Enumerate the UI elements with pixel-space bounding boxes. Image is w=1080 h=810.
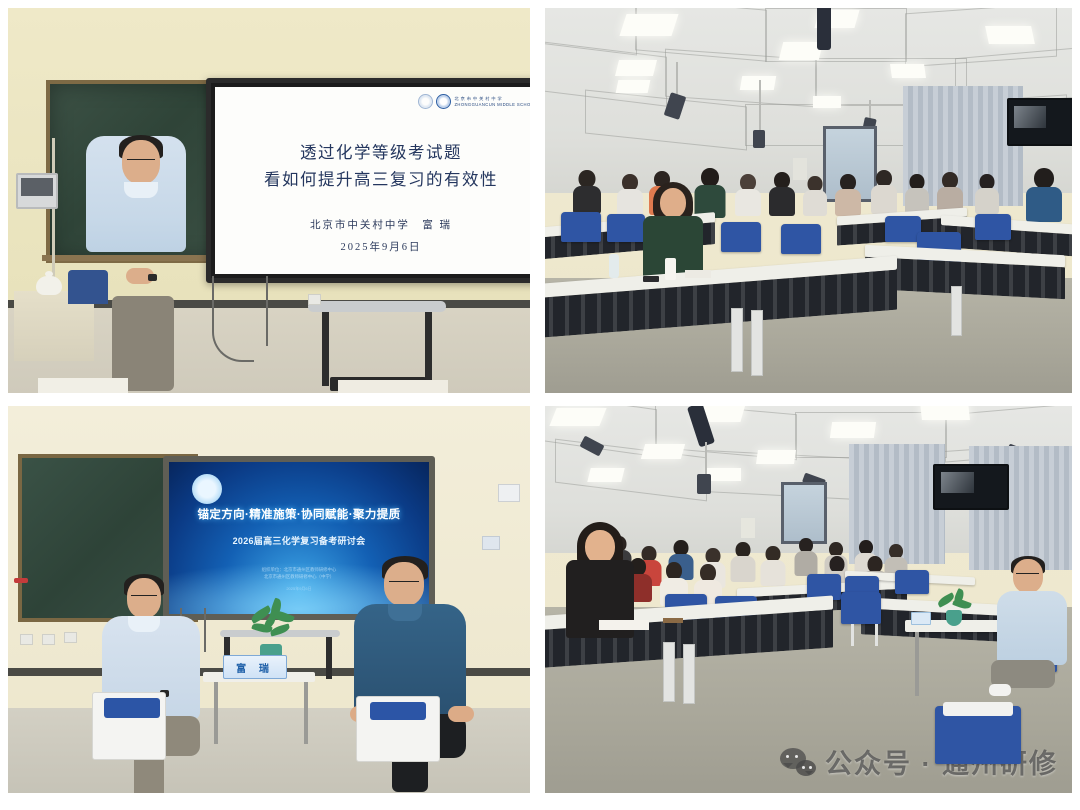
chair-backrest [943,702,1013,716]
drop-rod [705,442,707,476]
ceiling-light [707,468,741,481]
glasses-icon [389,581,419,582]
wall-panel [482,536,500,550]
chair [975,214,1011,240]
slide-logo-text-line2: ZHONGGUANCUN MIDDLE SCHOOL [454,102,530,107]
slide-title-line1: 透过化学等级考试题 [215,139,530,166]
window [781,482,827,544]
wall-ac-unit [741,518,755,538]
chair [607,214,645,242]
shoe [989,684,1011,696]
desk-leg [751,310,763,376]
photo-collage: 北 京 市 中 关 村 中 学 ZHONGGUANCUN MIDDLE SCHO… [0,0,1080,810]
presenter-legs [112,296,174,391]
head [127,578,161,618]
ceiling-light [890,64,926,78]
glasses-icon [1016,573,1039,574]
smartboard-screen: 北 京 市 中 关 村 中 学 ZHONGGUANCUN MIDDLE SCHO… [215,87,530,274]
school-emblem-faint-icon [418,94,433,109]
water-bottle [609,254,619,278]
ceiling-light [549,408,606,426]
chair [895,570,929,594]
wall-tv [933,464,1009,510]
presenter [86,136,198,391]
table-leg [214,682,218,744]
open-notebook [599,620,649,630]
photo-seated-pair-slide: 锚定方向·精准施策·协同赋能·聚力提质 2026届高三化学复习备考研讨会 组织单… [8,406,530,793]
drop-rod [676,62,678,96]
school-emblem-icon [436,94,451,109]
presenter-collar [124,182,158,198]
wall-switch[interactable] [498,484,520,502]
ceiling-light [756,450,796,464]
chair [781,224,821,254]
wall-socket [308,294,321,305]
stand-leg-right [425,312,432,386]
desk-leg [951,286,962,336]
slide-headline: 锚定方向·精准施策·协同赋能·聚力提质 [169,506,429,522]
desk-leg [731,308,743,372]
potted-plant [937,594,971,624]
pen [663,618,683,623]
drop-rod [759,80,761,132]
hanging-speaker [817,8,831,50]
paper-cup [665,258,676,280]
chair [885,216,921,242]
notebook [685,270,711,278]
head [1013,559,1043,593]
slide-subhead: 2026届高三化学复习备考研讨会 [169,534,429,547]
wall-socket [20,634,33,645]
slide-title: 透过化学等级考试题 看如何提升高三复习的有效性 [215,139,530,193]
glasses-icon [131,595,157,596]
ceiling-light [920,406,970,420]
chair [721,222,761,252]
chair [561,212,601,242]
projector-arm [753,130,765,148]
presenter-head [122,140,160,184]
teapot [36,276,62,295]
wall-socket [64,632,77,643]
table-leg [304,682,308,744]
phone [643,276,659,282]
power-cable [212,276,254,362]
ceiling-light [616,80,651,93]
torso [997,591,1067,665]
chair-cushion [370,702,426,720]
standing-attendee [567,526,633,656]
ceiling-light [619,14,678,36]
projector-arm [697,474,711,494]
front-desk [38,378,128,393]
desk-leg [663,642,675,702]
hand-right [448,706,474,722]
slide-date: 2025年9月6日 [215,237,530,259]
glasses-icon [127,159,155,160]
stand-leg-left [322,312,329,386]
chair-cushion [104,698,160,718]
photo-presenter-slide: 北 京 市 中 关 村 中 学 ZHONGGUANCUN MIDDLE SCHO… [8,8,530,393]
slide-logos: 北 京 市 中 关 村 中 学 ZHONGGUANCUN MIDDLE SCHO… [418,94,530,109]
front-desk-2 [338,380,448,393]
screen-moon-graphic [192,474,222,504]
ceiling-light [615,60,657,76]
wall-tv [1007,98,1072,146]
ceiling-light [740,76,776,90]
stand-crossbar [308,301,446,312]
slide-title-line2: 看如何提升高三复习的有效性 [215,166,530,193]
ceiling-light [641,444,685,459]
wristwatch [148,274,157,281]
placard-text: 富 瑞 [236,660,274,675]
photo-audience-front [545,8,1072,393]
ceiling-light [985,26,1035,44]
wall-monitor [16,173,58,209]
wall-socket [42,634,55,645]
power-cable-2 [266,276,268,346]
ceiling-light [830,422,876,438]
chair [841,592,881,624]
photo-audience-side: 公众号 · 通州研修 [545,406,1072,793]
collar [388,604,422,621]
head [384,562,424,606]
ceiling-light [813,96,841,108]
desk-leg [683,644,695,704]
name-placard: 富 瑞 [223,655,287,679]
collar [128,616,160,632]
stand-leg [326,637,332,679]
slide-logo-text-line1: 北 京 市 中 关 村 中 学 [454,96,502,101]
smartboard: 北 京 市 中 关 村 中 学 ZHONGGUANCUN MIDDLE SCHO… [206,78,530,283]
seated-presenter [997,556,1069,696]
chalk-eraser [14,578,28,583]
ceiling-light [587,468,624,482]
wechat-icon [780,748,816,776]
slide-presenter: 北京市中关村中学 富 瑞 [215,215,530,237]
slide-subtitle: 北京市中关村中学 富 瑞 2025年9月6日 [215,215,530,259]
smartboard-stand [308,273,446,391]
name-card [911,612,931,625]
